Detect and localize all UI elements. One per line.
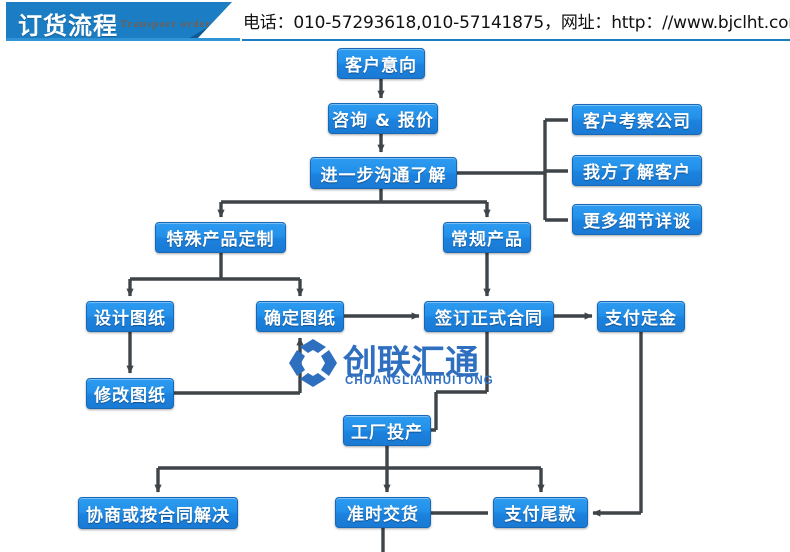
flow-node-negotiate-resolve: 协商或按合同解决 <box>78 497 238 529</box>
flow-node-more-details: 更多细节详谈 <box>572 204 702 235</box>
flow-node-on-time-delivery: 准时交货 <box>335 497 431 528</box>
header-contact-info: 电话：010-57293618,010-57141875，网址：http：//w… <box>243 8 790 33</box>
flow-node-we-know-customer: 我方了解客户 <box>572 155 702 186</box>
flow-node-further-communication: 进一步沟通了解 <box>310 157 457 189</box>
flow-node-standard-product: 常规产品 <box>443 222 531 253</box>
order-process-flowchart: 创联汇通 CHUANGLIANHUITONG 客户意向咨询 & 报价进一步沟通了… <box>0 42 790 552</box>
flow-node-sign-contract: 签订正式合同 <box>424 301 554 332</box>
banner-subtitle: Transport order <box>120 18 211 30</box>
flow-node-customer-visit: 客户考察公司 <box>572 104 702 135</box>
flow-node-pay-deposit: 支付定金 <box>597 301 685 332</box>
page-header: 订货流程 Transport order 电话：010-57293618,010… <box>0 0 790 42</box>
flow-node-inquiry-quote: 咨询 & 报价 <box>328 103 438 134</box>
flow-node-confirm-drawing: 确定图纸 <box>256 301 344 332</box>
flow-node-pay-balance: 支付尾款 <box>493 497 588 528</box>
flow-node-factory-production: 工厂投产 <box>343 415 431 446</box>
flow-node-custom-product: 特殊产品定制 <box>155 222 286 253</box>
flow-node-design-drawing: 设计图纸 <box>86 301 174 332</box>
banner-title: 订货流程 <box>18 6 118 41</box>
flow-node-customer-intent: 客户意向 <box>337 48 425 79</box>
flow-node-revise-drawing: 修改图纸 <box>86 378 174 409</box>
